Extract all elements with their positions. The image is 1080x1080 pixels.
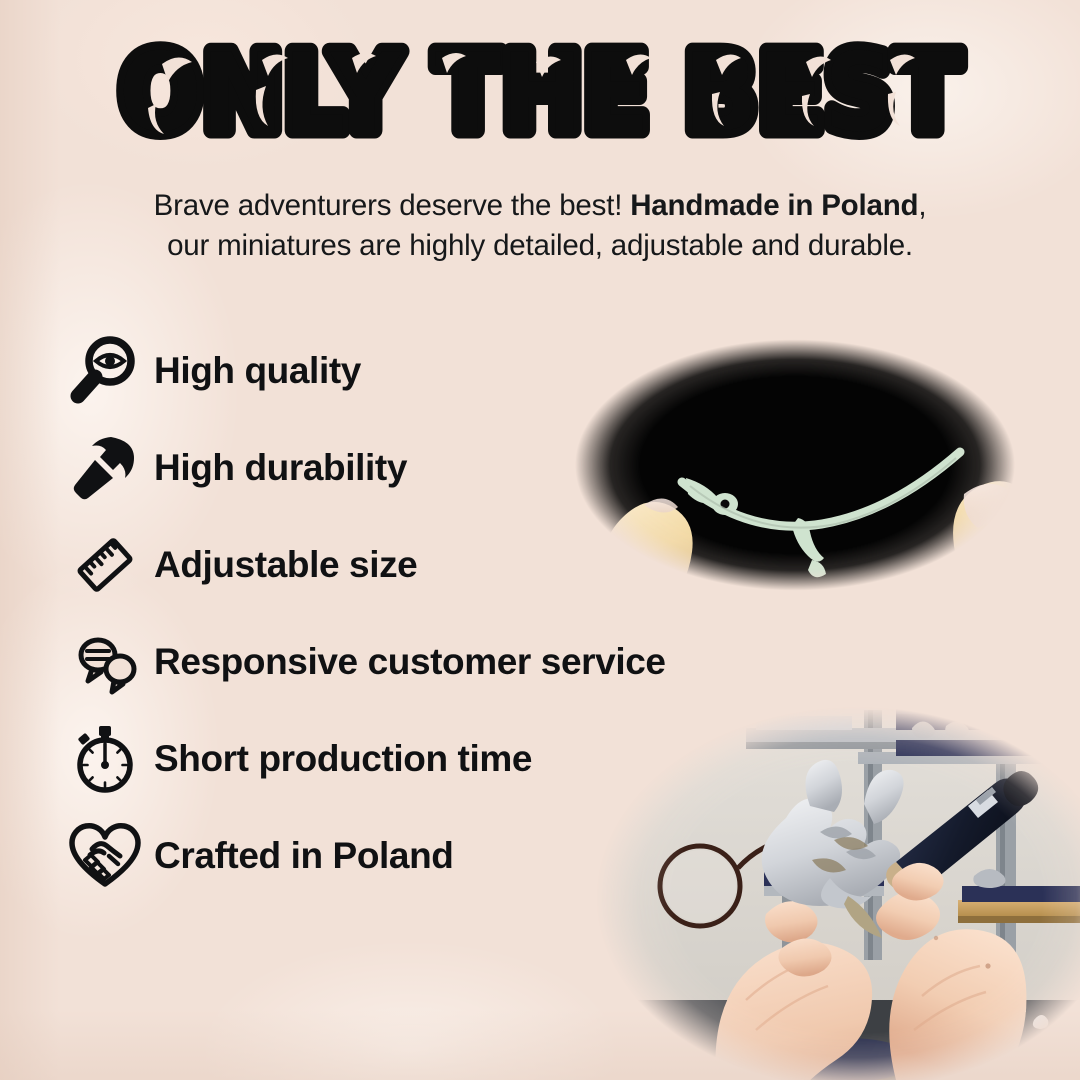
feature-label: Short production time	[154, 738, 532, 780]
stopwatch-icon	[62, 716, 148, 802]
subtitle: Brave adventurers deserve the best! Hand…	[60, 186, 1020, 266]
feature-label: Adjustable size	[154, 544, 417, 586]
paper-edge-shade	[0, 0, 60, 1080]
magnifier-eye-icon	[62, 328, 148, 414]
svg-text:ONLY THE BEST: ONLY THE BEST	[119, 34, 961, 154]
photo-content	[596, 700, 1080, 1080]
torn-edge-mask	[596, 700, 1080, 1080]
speech-bubbles-icon	[62, 619, 148, 705]
subtitle-lead: Brave adventurers deserve the best!	[154, 189, 623, 222]
hammer-icon	[62, 425, 148, 511]
infographic-canvas: .bub { font-family: "DejaVu Sans", sans-…	[0, 0, 1080, 1080]
feature-item-customer-service: Responsive customer service	[62, 613, 802, 710]
bendy-miniature-photo	[540, 310, 1050, 620]
ruler-icon	[62, 522, 148, 608]
subtitle-emphasis: Handmade in Poland	[630, 189, 918, 222]
headline-bubble-text: .bub { font-family: "DejaVu Sans", sans-…	[90, 34, 990, 154]
photo-content	[540, 310, 1050, 620]
subtitle-line2: our miniatures are highly detailed, adju…	[167, 229, 913, 262]
paper-texture-blotch	[200, 940, 620, 1080]
heart-handshake-icon	[62, 813, 148, 899]
feature-label: Crafted in Poland	[154, 835, 454, 877]
feature-label: High quality	[154, 350, 361, 392]
feature-label: Responsive customer service	[154, 641, 666, 683]
headline: .bub { font-family: "DejaVu Sans", sans-…	[0, 34, 1080, 154]
feature-label: High durability	[154, 447, 407, 489]
torn-edge-mask	[540, 310, 1050, 620]
subtitle-comma: ,	[918, 189, 926, 222]
painting-workshop-photo	[596, 700, 1080, 1080]
